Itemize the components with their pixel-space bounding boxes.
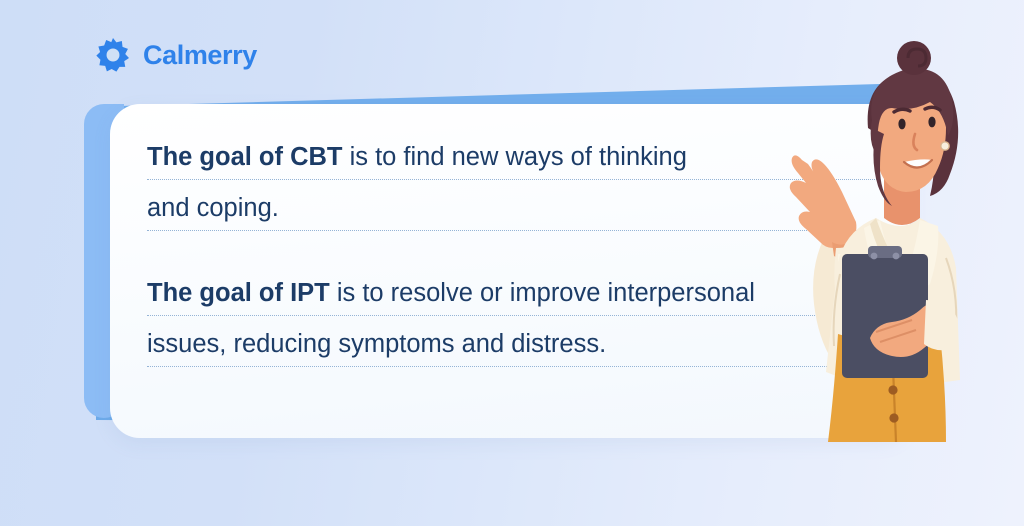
bold-lead: The goal of CBT — [147, 143, 342, 171]
line-rest: is to resolve or improve interpersonal — [330, 279, 755, 307]
brand-logo[interactable]: Calmerry — [96, 34, 257, 76]
card-body: The goal of CBT is to find new ways of t… — [147, 132, 867, 370]
paragraph-ipt: The goal of IPT is to resolve or improve… — [147, 268, 867, 370]
woman-with-clipboard-illustration — [780, 42, 970, 442]
text-line: The goal of IPT is to resolve or improve… — [147, 268, 867, 319]
text-line: and coping. — [147, 183, 867, 234]
line-rest: is to find new ways of thinking — [342, 143, 686, 171]
line-rest: and coping. — [147, 194, 279, 222]
bold-lead: The goal of IPT — [147, 279, 330, 307]
paragraph-cbt: The goal of CBT is to find new ways of t… — [147, 132, 867, 234]
text-line: The goal of CBT is to find new ways of t… — [147, 132, 867, 183]
flower-gear-icon — [96, 38, 130, 72]
text-line: issues, reducing symptoms and distress. — [147, 319, 867, 370]
line-rest: issues, reducing symptoms and distress. — [147, 330, 606, 358]
brand-name: Calmerry — [143, 42, 257, 69]
illustration-banner: Calmerry The goal of CBT is to find new … — [0, 0, 1024, 526]
hair-bun — [897, 41, 931, 75]
clipboard — [842, 246, 928, 378]
